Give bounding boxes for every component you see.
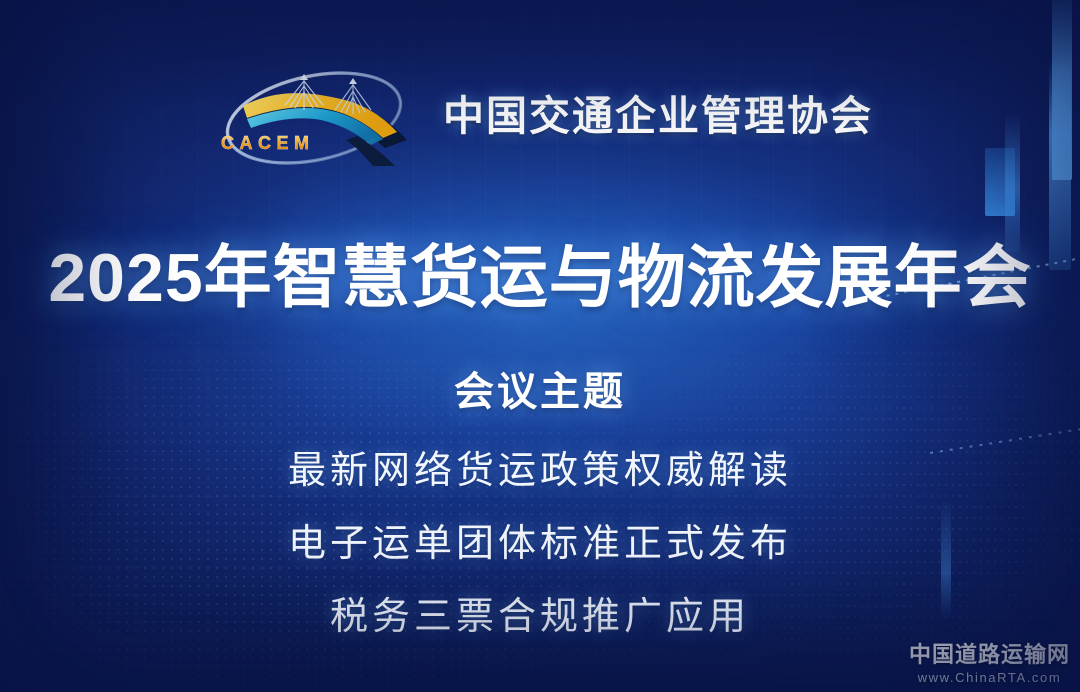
site-watermark: 中国道路运输网 www.ChinaRTA.com <box>909 644 1070 684</box>
list-item: 最新网络货运政策权威解读 <box>0 452 1080 490</box>
organization-header: CACEM 中国交通企业管理协会 <box>0 62 1080 174</box>
page-title: 2025年智慧货运与物流发展年会 <box>0 243 1080 314</box>
association-name: 中国交通企业管理协会 <box>443 96 873 141</box>
topic-list: 最新网络货运政策权威解读 电子运单团体标准正式发布 税务三票合规推广应用 <box>0 452 1080 636</box>
conference-theme-heading: 会议主题 <box>0 372 1080 412</box>
cacem-logo: CACEM <box>207 62 421 174</box>
cacem-wordmark-text: CACEM <box>221 133 315 153</box>
watermark-site-url: www.ChinaRTA.com <box>909 671 1070 684</box>
list-item: 电子运单团体标准正式发布 <box>0 525 1080 563</box>
list-item: 税务三票合规推广应用 <box>0 598 1080 636</box>
conference-poster: CACEM 中国交通企业管理协会 2025年智慧货运与物流发展年会 会议主题 最… <box>0 0 1080 692</box>
watermark-site-name: 中国道路运输网 <box>909 644 1070 666</box>
